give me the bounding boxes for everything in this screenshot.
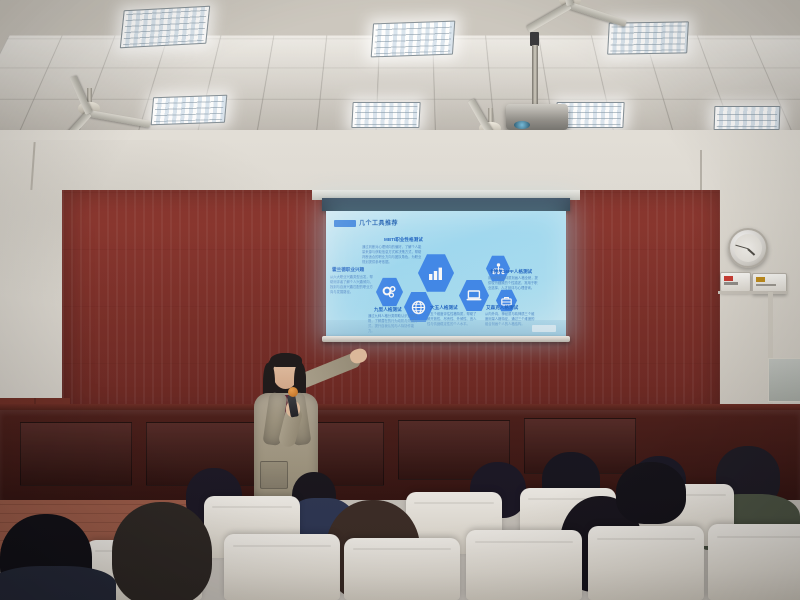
ceiling-light-panel (151, 95, 228, 126)
microphone-head (288, 387, 298, 397)
auditorium-seat (708, 524, 800, 600)
audience-head (112, 502, 212, 600)
ceiling-light-panel (120, 6, 210, 49)
auditorium-seat (344, 538, 460, 600)
projection-screen: 几个工具推荐 MBTI职业性格测试 通过判断对心理倾向的偏好，了解个人能量来源与… (326, 211, 566, 336)
wall-control-panel[interactable] (720, 272, 751, 292)
node-body: 用16种根源特质刻画人格全貌，提供较为细致的个性描述，常用于职业选择、人才测评与… (488, 276, 538, 291)
wall-vent (768, 358, 800, 402)
node-body: 从六大职业兴趣类型出发，帮助测评者了解个人兴趣倾向，找到与自身兴趣匹配的职业方向… (330, 275, 376, 295)
lecture-hall-photo: 几个工具推荐 MBTI职业性格测试 通过判断对心理倾向的偏好，了解个人能量来源与… (0, 0, 800, 600)
slide-content: 几个工具推荐 MBTI职业性格测试 通过判断对心理倾向的偏好，了解个人能量来源与… (326, 211, 566, 336)
auditorium-seat (466, 530, 582, 600)
screen-bottom-bar (322, 336, 570, 342)
node-label: MBTI职业性格测试 (384, 237, 423, 243)
laptop-icon (459, 279, 489, 312)
ceiling-light-panel (351, 102, 420, 128)
node-label: 九型人格测试 (374, 307, 402, 313)
ceiling-projector (500, 32, 590, 122)
wall-clock (728, 228, 768, 268)
slide-footer (326, 320, 566, 336)
node-label: 霍兰德职业兴趣 (332, 267, 364, 273)
ceiling-light-panel (371, 21, 456, 58)
gears-icon (376, 277, 403, 307)
screen-housing (322, 198, 570, 211)
presenter-coat-pocket (260, 461, 288, 489)
auditorium-seat (224, 534, 340, 600)
slide-page-number (532, 325, 556, 332)
control-panel-shelf (718, 291, 788, 294)
node-body: 通过判断对心理倾向的偏好，了解个人能量来源与获取信息方式和决策方式，帮助判断适合… (362, 245, 424, 265)
node-label: 艾森克人格测试 (486, 305, 518, 311)
auditorium-seat (588, 526, 704, 600)
slide-title: 几个工具推荐 (359, 218, 398, 227)
ceiling-light-panel (714, 106, 781, 130)
audience-shoulders (0, 566, 116, 600)
node-label: 大五人格测试 (430, 305, 458, 311)
slide-title-chip (334, 220, 356, 227)
audience-head (616, 462, 686, 524)
node-label: 卡特尔16PF人格测试 (489, 269, 532, 275)
